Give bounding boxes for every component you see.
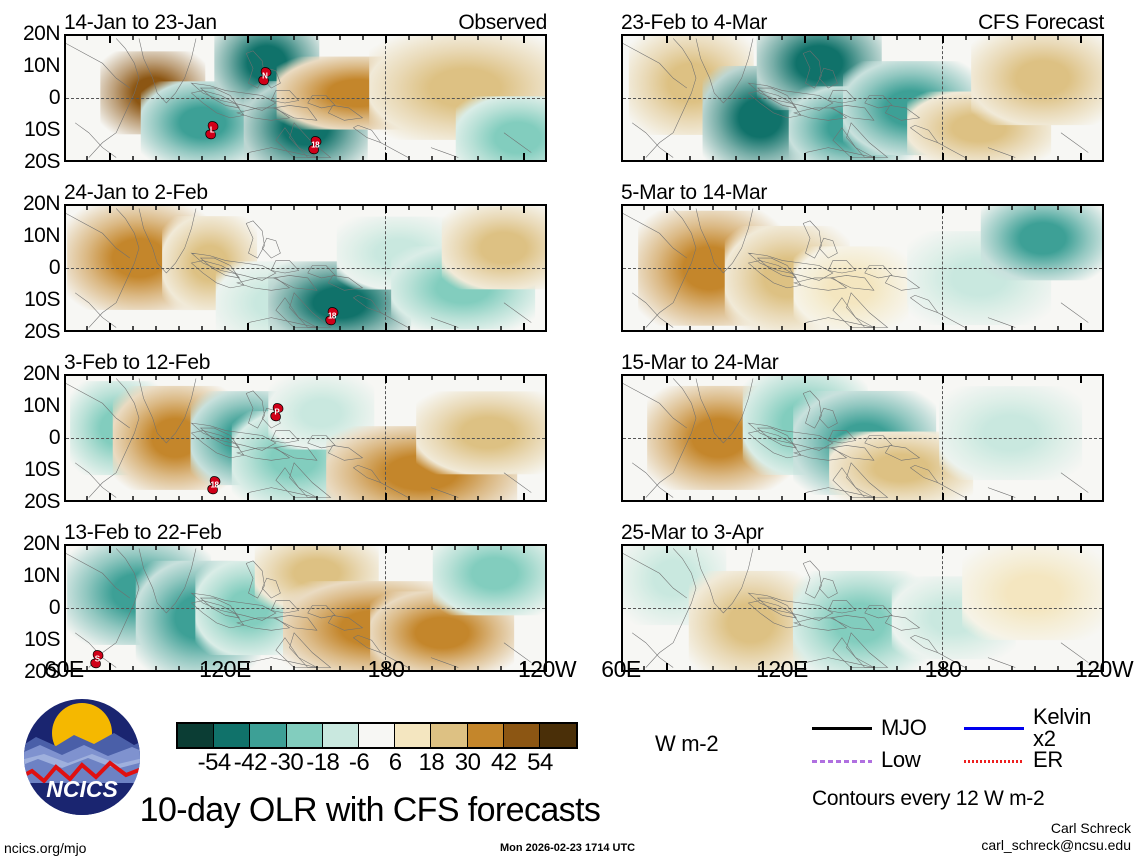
y-axis-tick-label: 10S: [24, 459, 60, 480]
y-axis-tick-label: 0: [49, 597, 60, 618]
panel-title: 5-Mar to 14-Mar: [621, 182, 767, 203]
cyclone-marker: 18: [207, 476, 222, 495]
panel-title: 25-Mar to 3-Apr: [621, 522, 764, 543]
olr-panel: 25-Mar to 3-Apr: [621, 524, 1104, 672]
ncics-logo[interactable]: NCICS: [22, 697, 142, 817]
dateline-marker: [942, 36, 943, 160]
dateline-marker: [942, 546, 943, 670]
cyclone-marker: N: [257, 66, 272, 85]
y-axis-tick-label: 0: [49, 427, 60, 448]
dateline-marker: [385, 206, 386, 330]
er-line-icon: [964, 757, 1024, 763]
map-area: 18: [64, 204, 547, 332]
footer-author: Carl Schreck: [981, 820, 1131, 837]
x-axis-tick-label: 120E: [756, 658, 808, 681]
olr-panel: 14-Jan to 23-JanObserved20N10N010S20S N …: [64, 14, 547, 162]
panel-title: 24-Jan to 2-Feb: [64, 182, 208, 203]
y-axis-tick-label: 20S: [24, 491, 60, 512]
y-axis-tick-label: 10N: [23, 225, 60, 246]
colorbar-swatch: [214, 724, 250, 747]
x-axis-tick-label: 180: [925, 658, 962, 681]
colorbar-tick-label: -18: [306, 751, 339, 775]
x-axis-right: 60E120E180120W: [621, 658, 1104, 684]
y-axis-tick-label: 10N: [23, 565, 60, 586]
equator-line: [66, 98, 545, 99]
dateline-marker: [942, 376, 943, 500]
footer-contact: Carl Schreck carl_schreck@ncsu.edu: [981, 820, 1131, 854]
map-area: S: [64, 544, 547, 672]
colorbar-tick-label: 54: [527, 751, 553, 775]
map-area: [621, 204, 1104, 332]
cyclone-label: 18: [308, 136, 323, 155]
x-axis-tick-label: 120E: [199, 658, 251, 681]
y-axis-tick-label: 20N: [23, 23, 60, 44]
y-axis-tick-label: 20S: [24, 151, 60, 172]
cyclone-marker: 18: [308, 136, 323, 155]
cyclone-marker: 18: [324, 307, 339, 326]
colorbar-tick-label: 18: [419, 751, 445, 775]
y-axis-tick-label: 10S: [24, 289, 60, 310]
equator-line: [66, 268, 545, 269]
olr-panel: 23-Feb to 4-MarCFS Forecast: [621, 14, 1104, 162]
legend-row: MJO Kelvin x2: [812, 712, 1122, 744]
dateline-marker: [942, 206, 943, 330]
dateline-marker: [385, 36, 386, 160]
legend-row: Low ER: [812, 744, 1122, 776]
colorbar-swatches: [176, 722, 578, 749]
panel-corner-label: CFS Forecast: [978, 12, 1104, 33]
y-axis: 20N10N010S20S: [4, 34, 60, 162]
equator-line: [623, 438, 1102, 439]
y-axis-tick-label: 20N: [23, 533, 60, 554]
legend-item-kelvin: Kelvin x2: [964, 706, 1116, 750]
x-axis-tick-label: 60E: [601, 658, 640, 681]
colorbar-swatch: [504, 724, 540, 747]
colorbar-swatch: [540, 724, 576, 747]
wave-legend: MJO Kelvin x2 Low ER: [812, 712, 1122, 776]
footer-website[interactable]: ncics.org/mjo: [4, 840, 86, 856]
colorbar-tick-label: -30: [270, 751, 303, 775]
panel-corner-label: Observed: [458, 12, 547, 33]
x-axis-left: 60E120E180120W: [64, 658, 547, 684]
y-axis-tick-label: 10S: [24, 629, 60, 650]
colorbar: -54-42-30-18-6618304254: [176, 722, 578, 775]
legend-label-kelvin: Kelvin x2: [1033, 706, 1116, 750]
colorbar-swatch: [250, 724, 286, 747]
equator-line: [623, 98, 1102, 99]
y-axis: 20N10N010S20S: [4, 374, 60, 502]
y-axis-tick-label: 10N: [23, 55, 60, 76]
x-axis-tick-label: 60E: [44, 658, 83, 681]
olr-panel: 24-Jan to 2-Feb20N10N010S20S 18: [64, 184, 547, 332]
colorbar-tick-labels: -54-42-30-18-6618304254: [176, 749, 578, 775]
y-axis-tick-label: 10S: [24, 119, 60, 140]
legend-item-low: Low: [812, 749, 964, 771]
footer-timestamp: Mon 2026-02-23 1714 UTC: [500, 842, 635, 854]
cyclone-marker: P: [269, 402, 284, 421]
colorbar-tick-label: 6: [389, 751, 402, 775]
equator-line: [623, 268, 1102, 269]
map-area: P 18: [64, 374, 547, 502]
kelvin-line-icon: [964, 727, 1024, 730]
cyclone-label: P: [269, 402, 284, 421]
map-area: [621, 544, 1104, 672]
x-axis-tick-label: 120W: [1075, 658, 1133, 681]
colorbar-tick-label: 42: [491, 751, 517, 775]
cyclone-label: 18: [207, 476, 222, 495]
colorbar-swatch: [395, 724, 431, 747]
y-axis-tick-label: 20N: [23, 193, 60, 214]
legend-label-mjo: MJO: [881, 717, 927, 739]
legend-item-er: ER: [964, 749, 1116, 771]
colorbar-swatch: [431, 724, 467, 747]
dateline-marker: [385, 376, 386, 500]
olr-panel: 13-Feb to 22-Feb20N10N010S20S S: [64, 524, 547, 672]
low-line-icon: [812, 757, 872, 763]
panel-title: 14-Jan to 23-Jan: [64, 12, 217, 33]
panel-title: 3-Feb to 12-Feb: [64, 352, 210, 373]
y-axis-tick-label: 20N: [23, 363, 60, 384]
y-axis-tick-label: 0: [49, 257, 60, 278]
logo-text: NCICS: [46, 776, 118, 802]
colorbar-swatch: [323, 724, 359, 747]
legend-label-er: ER: [1033, 749, 1063, 771]
map-area: N L 18: [64, 34, 547, 162]
cyclone-marker: L: [205, 121, 220, 140]
y-axis: 20N10N010S20S: [4, 204, 60, 332]
y-axis-tick-label: 10N: [23, 395, 60, 416]
legend-item-mjo: MJO: [812, 717, 964, 739]
cyclone-label: N: [257, 66, 272, 85]
colorbar-swatch: [468, 724, 504, 747]
olr-panel: 15-Mar to 24-Mar: [621, 354, 1104, 502]
panel-title: 13-Feb to 22-Feb: [64, 522, 221, 543]
colorbar-tick-label: 30: [455, 751, 481, 775]
colorbar-tick-label: -54: [198, 751, 231, 775]
contour-interval-note: Contours every 12 W m-2: [812, 787, 1044, 811]
equator-line: [66, 438, 545, 439]
equator-line: [623, 608, 1102, 609]
x-axis-tick-label: 120W: [518, 658, 576, 681]
y-axis-tick-label: 0: [49, 87, 60, 108]
cyclone-label: L: [205, 121, 220, 140]
legend-label-low: Low: [881, 749, 920, 771]
colorbar-tick-label: -42: [234, 751, 267, 775]
colorbar-swatch: [359, 724, 395, 747]
footer-email[interactable]: carl_schreck@ncsu.edu: [981, 837, 1131, 854]
colorbar-units-label: W m-2: [655, 731, 718, 757]
panel-title: 15-Mar to 24-Mar: [621, 352, 778, 373]
map-area: [621, 374, 1104, 502]
map-area: [621, 34, 1104, 162]
colorbar-swatch: [287, 724, 323, 747]
x-axis-tick-label: 180: [368, 658, 405, 681]
colorbar-swatch: [178, 724, 214, 747]
y-axis: 20N10N010S20S: [4, 544, 60, 672]
y-axis-tick-label: 20S: [24, 321, 60, 342]
mjo-line-icon: [812, 727, 872, 730]
olr-panel: 3-Feb to 12-Feb20N10N010S20S P 18: [64, 354, 547, 502]
equator-line: [66, 608, 545, 609]
cyclone-label: 18: [324, 307, 339, 326]
panel-title: 23-Feb to 4-Mar: [621, 12, 767, 33]
olr-panel: 5-Mar to 14-Mar: [621, 184, 1104, 332]
colorbar-tick-label: -6: [349, 751, 369, 775]
dateline-marker: [385, 546, 386, 670]
